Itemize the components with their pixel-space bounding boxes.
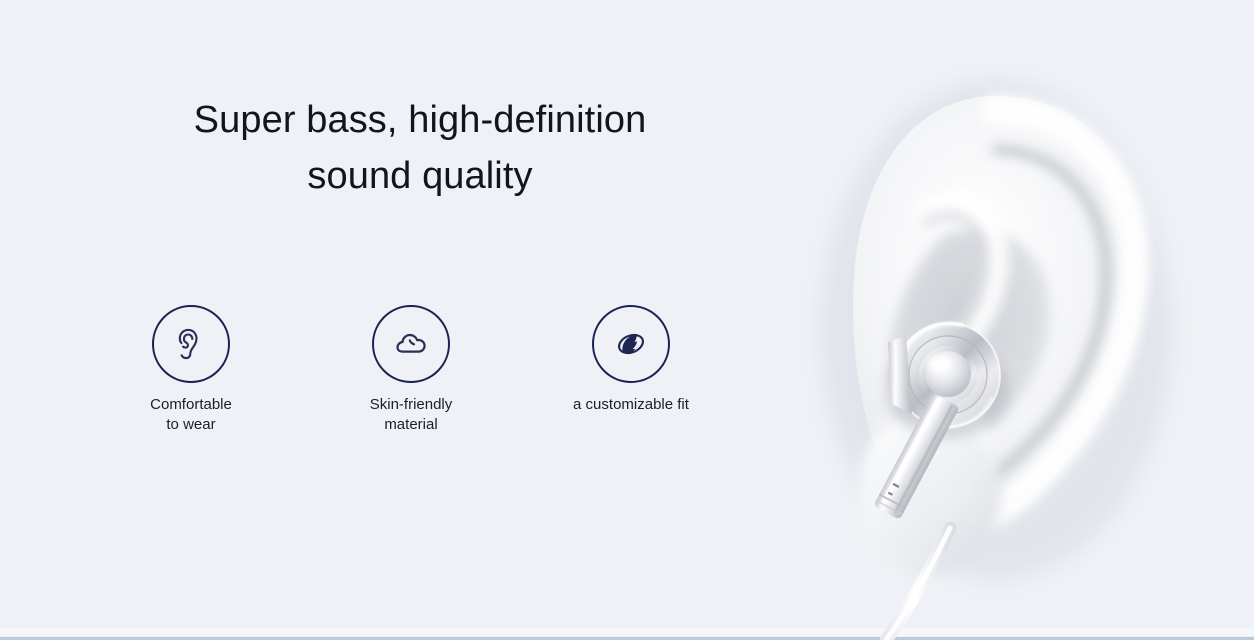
cloud-icon: [372, 305, 450, 383]
feature-item-customizable-fit: a customizable fit: [521, 305, 741, 435]
ear-icon: [152, 305, 230, 383]
leaf-icon: [592, 305, 670, 383]
page-title: Super bass, high-definition sound qualit…: [60, 92, 780, 204]
feature-label: Comfortable to wear: [150, 395, 232, 435]
feature-item-comfortable: Comfortable to wear: [81, 305, 301, 435]
product-image: [800, 0, 1254, 640]
feature-label: a customizable fit: [573, 395, 689, 415]
feature-item-skin-friendly: Skin-friendly material: [301, 305, 521, 435]
promo-banner: Super bass, high-definition sound qualit…: [0, 0, 1254, 640]
feature-label: Skin-friendly material: [370, 395, 453, 435]
feature-list: Comfortable to wear Skin-friendly materi…: [81, 305, 741, 435]
